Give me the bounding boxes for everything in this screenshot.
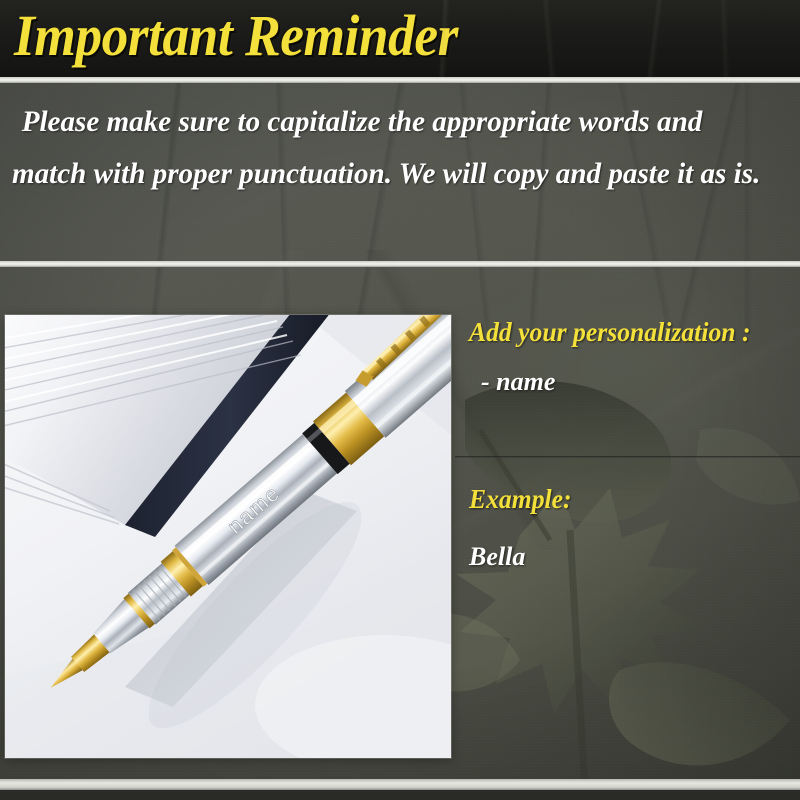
personalization-value[interactable]: - name bbox=[481, 365, 765, 399]
intro-line-2: match with proper punctuation. We will c… bbox=[12, 148, 771, 200]
divider-between-panel-blocks bbox=[455, 456, 800, 458]
personalization-block: Add your personalization : - name bbox=[469, 315, 765, 399]
reminder-page: Important Reminder Please make sure to c… bbox=[0, 0, 800, 800]
divider-bottom bbox=[0, 779, 800, 790]
example-label: Example: bbox=[469, 482, 572, 516]
example-value: Bella bbox=[469, 540, 577, 574]
personalization-label: Add your personalization : bbox=[469, 315, 750, 349]
pen-illustration: name bbox=[5, 315, 451, 758]
personalization-panel: Add your personalization : - name Exampl… bbox=[455, 300, 800, 780]
product-image: name bbox=[5, 315, 451, 758]
intro-paragraph: Please make sure to capitalize the appro… bbox=[0, 96, 800, 256]
divider-below-intro bbox=[0, 261, 800, 267]
page-title: Important Reminder bbox=[14, 3, 458, 69]
intro-line-1: Please make sure to capitalize the appro… bbox=[12, 96, 771, 148]
example-block: Example: Bella bbox=[469, 482, 577, 574]
footer-strip bbox=[0, 790, 800, 800]
divider-below-header bbox=[0, 77, 800, 83]
header-band: Important Reminder bbox=[0, 0, 800, 77]
product-photo-canvas: name bbox=[5, 315, 451, 758]
